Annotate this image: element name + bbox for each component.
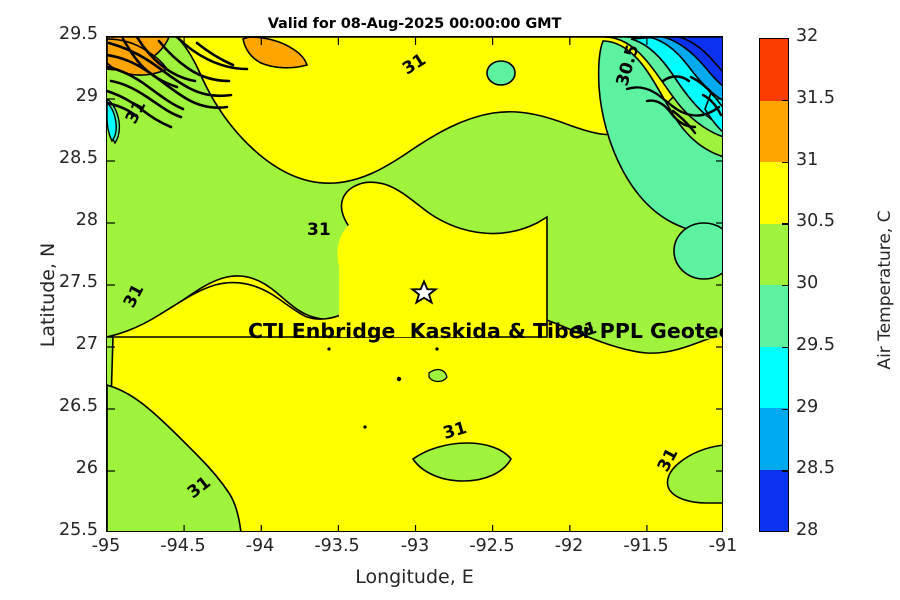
colorbar-tick-label: 31 <box>796 150 866 170</box>
xtick-label: -94.5 <box>143 536 223 556</box>
field-speck <box>363 425 366 428</box>
colorbar-tick-mark <box>782 347 789 348</box>
field-speck <box>435 347 438 350</box>
colorbar-axis-label: Air Temperature, C <box>875 175 895 405</box>
y-axis-label: Latitude, N <box>37 195 59 395</box>
colorbar-tick-label: 30 <box>796 273 866 293</box>
contour-plot-area[interactable]: 31 31 30.5 31 31 31 31 31 31 <box>106 36 723 532</box>
xtick-label: -91 <box>683 536 763 556</box>
xtick-label: -93.5 <box>297 536 377 556</box>
ytick-label: 26 <box>10 458 98 478</box>
field-micro-island <box>429 370 447 382</box>
ytick-label: 29 <box>10 86 98 106</box>
colorbar-tick-label: 29 <box>796 397 866 417</box>
colorbar-tick-label: 28.5 <box>796 458 866 478</box>
colorbar-tick-mark <box>782 223 789 224</box>
colorbar-tick-mark <box>782 409 789 410</box>
colorbar-band-31.5-32 <box>760 39 788 101</box>
ytick-label: 26.5 <box>10 396 98 416</box>
ytick-label: 25.5 <box>10 520 98 540</box>
colorbar-tick-label: 29.5 <box>796 335 866 355</box>
colorbar-tick-label: 32 <box>796 26 866 46</box>
xtick-label: -92 <box>529 536 609 556</box>
field-speck <box>327 347 330 350</box>
contour-label: 31 <box>307 220 331 240</box>
colorbar-tick-label: 30.5 <box>796 211 866 231</box>
x-axis-label: Longitude, E <box>106 566 723 588</box>
figure-container: Valid for 08-Aug-2025 00:00:00 GMT <box>0 0 900 600</box>
colorbar-band-29.5-30 <box>760 285 788 347</box>
ytick-label: 29.5 <box>10 24 98 44</box>
xtick-label: -93 <box>375 536 455 556</box>
colorbar-band-31-31.5 <box>760 101 788 163</box>
colorbar-band-29-29.5 <box>760 347 788 409</box>
colorbar-tick-mark <box>782 285 789 286</box>
colorbar-tick-label: 28 <box>796 520 866 540</box>
colorbar-tick-label: 31.5 <box>796 88 866 108</box>
colorbar-tick-mark <box>782 162 789 163</box>
chart-title: Valid for 08-Aug-2025 00:00:00 GMT <box>106 16 723 32</box>
colorbar-tick-mark <box>782 100 789 101</box>
colorbar-band-28.5-29 <box>760 408 788 470</box>
xtick-label: -92.5 <box>452 536 532 556</box>
xtick-label: -94 <box>220 536 300 556</box>
colorbar-tick-mark <box>782 470 789 471</box>
colorbar-band-30-30.5 <box>760 224 788 286</box>
field-band-30-30.5-north-blob <box>487 61 515 85</box>
ytick-label: 28.5 <box>10 148 98 168</box>
contour-field-svg: 31 31 30.5 31 31 31 31 31 31 <box>107 37 723 532</box>
colorbar-band-30.5-31 <box>760 162 788 224</box>
field-speck <box>397 377 401 381</box>
colorbar-band-28-28.5 <box>760 470 788 532</box>
site-annotation-label: CTI Enbridge Kaskida & Tiber PPL Geotech… <box>248 321 723 342</box>
xtick-label: -91.5 <box>606 536 686 556</box>
